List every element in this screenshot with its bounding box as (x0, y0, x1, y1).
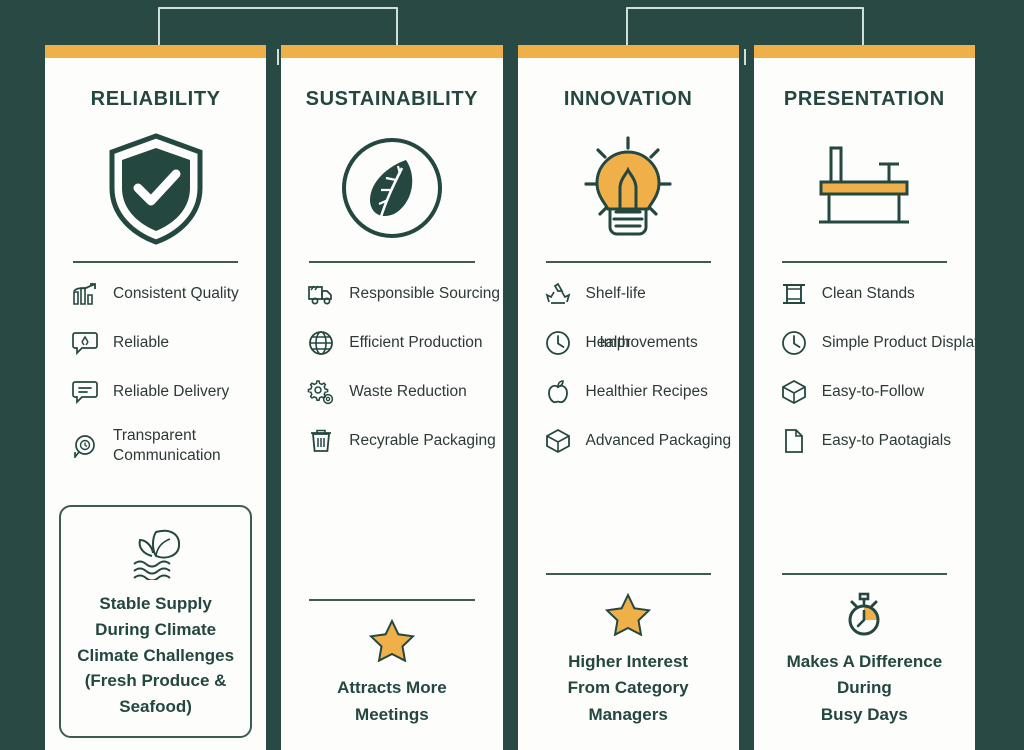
leaf-water-icon (69, 525, 242, 581)
list-item[interactable]: Reliable Delivery (71, 377, 240, 407)
list-item[interactable]: Advanced Packaging (544, 426, 713, 456)
accent-bar (754, 45, 975, 58)
box-3d-icon (544, 427, 572, 455)
list-item-label: Transparent Communication (113, 426, 240, 467)
pillar-title: PRESENTATION (754, 88, 975, 111)
list-item[interactable]: Easy-to-Follow (780, 377, 949, 407)
list-item-label: Responsible Sourcing (349, 284, 500, 304)
star-icon (528, 591, 729, 637)
list-item-label: Easy-to Paotagials (822, 431, 951, 451)
star-icon (291, 617, 492, 663)
list-item-label: Easy-to-Follow (822, 382, 925, 402)
outcome-line: (Fresh Produce & Seafood) (69, 668, 242, 720)
list-item[interactable]: Shelf-life (544, 279, 713, 309)
chat-recycle-icon (71, 329, 99, 357)
display-counter-icon (754, 125, 975, 251)
outcome-line: Stable Supply (69, 591, 242, 617)
outcome-text: Higher Interest From Category Managers (528, 649, 729, 728)
outcome-line: During Climate (69, 617, 242, 643)
list-item-label: Health Improvements (586, 333, 631, 353)
chat-lines-icon (71, 378, 99, 406)
gears-icon (307, 378, 335, 406)
list-item[interactable]: Responsible Sourcing (307, 279, 476, 309)
outcome-line: Makes A Difference (764, 649, 965, 675)
apple-icon (544, 378, 572, 406)
clock-icon (780, 329, 808, 357)
pedestal-icon (780, 280, 808, 308)
pillar-card-reliability[interactable]: RELIABILITY (45, 45, 266, 750)
pillar-columns: RELIABILITY (45, 45, 975, 750)
box-3d-icon (780, 378, 808, 406)
outcome-line: Attracts More (291, 675, 492, 701)
trash-bin-icon (307, 427, 335, 455)
list-item[interactable]: Waste Reduction (307, 377, 476, 407)
outcome-line: Higher Interest (528, 649, 729, 675)
outcome-callout: Higher Interest From Category Managers (518, 575, 739, 750)
pillar-card-sustainability[interactable]: SUSTAINABILITY (281, 45, 502, 750)
outcome-line: Managers (528, 702, 729, 728)
recycle-icon (544, 280, 572, 308)
stopwatch-icon (764, 591, 965, 637)
list-item[interactable]: Simple Product Displays (780, 328, 949, 358)
divider (73, 261, 238, 263)
list-item-label: Efficient Production (349, 333, 482, 353)
list-item-label: Reliable (113, 333, 169, 353)
pillar-card-innovation[interactable]: INNOVATION (518, 45, 739, 750)
outcome-line: Busy Days (764, 702, 965, 728)
shield-check-icon (45, 125, 266, 251)
feature-list: Consistent Quality Reliable (71, 279, 240, 467)
feature-list: Shelf-life Health Improvements (544, 279, 713, 456)
globe-icon (307, 329, 335, 357)
accent-bar (518, 45, 739, 58)
bar-chart-growth-icon (71, 280, 99, 308)
feature-list: Responsible Sourcing Efficient Productio… (307, 279, 476, 456)
list-item[interactable]: Clean Stands (780, 279, 949, 309)
outcome-text: Stable Supply During Climate Climate Cha… (69, 591, 242, 720)
list-item-label: Recyrable Packaging (349, 431, 495, 451)
accent-bar (281, 45, 502, 58)
list-item-label: Shelf-life (586, 284, 646, 304)
outcome-line: From Category (528, 675, 729, 701)
pillar-card-presentation[interactable]: PRESENTATION (754, 45, 975, 750)
list-item[interactable]: Health Improvements (544, 328, 713, 358)
delivery-truck-icon (307, 280, 335, 308)
pillar-title: INNOVATION (518, 88, 739, 111)
divider (546, 261, 711, 263)
list-item-label: Simple Product Displays (822, 333, 975, 353)
divider (782, 261, 947, 263)
feature-list: Clean Stands Simple Product Displays (780, 279, 949, 456)
outcome-callout: Stable Supply During Climate Climate Cha… (59, 505, 252, 738)
lightbulb-icon (518, 125, 739, 251)
outcome-callout: Makes A Difference During Busy Days (754, 575, 975, 750)
list-item[interactable]: Recyrable Packaging (307, 426, 476, 456)
list-item[interactable]: Healthier Recipes (544, 377, 713, 407)
outcome-text: Attracts More Meetings (291, 675, 492, 728)
leaf-circle-icon (281, 125, 502, 251)
list-item[interactable]: Reliable (71, 328, 240, 358)
list-item-label: Advanced Packaging (586, 431, 732, 451)
list-item-label: Reliable Delivery (113, 382, 229, 402)
pillar-title: SUSTAINABILITY (281, 88, 502, 111)
divider (309, 261, 474, 263)
infographic-canvas: RELIABILITY (0, 0, 1024, 750)
outcome-line: During (764, 675, 965, 701)
list-item-label-overlay: Improvements (600, 333, 698, 353)
clock-icon (544, 329, 572, 357)
chat-clock-icon (71, 432, 99, 460)
list-item-label: Healthier Recipes (586, 382, 708, 402)
list-item[interactable]: Transparent Communication (71, 426, 240, 467)
accent-bar (45, 45, 266, 58)
outcome-line: Climate Challenges (69, 643, 242, 669)
list-item[interactable]: Consistent Quality (71, 279, 240, 309)
outcome-text: Makes A Difference During Busy Days (764, 649, 965, 728)
document-icon (780, 427, 808, 455)
outcome-callout: Attracts More Meetings (281, 601, 502, 750)
list-item-label: Clean Stands (822, 284, 915, 304)
outcome-line: Meetings (291, 702, 492, 728)
list-item[interactable]: Efficient Production (307, 328, 476, 358)
list-item-label: Waste Reduction (349, 382, 466, 402)
pillar-title: RELIABILITY (45, 88, 266, 111)
list-item-label: Consistent Quality (113, 284, 239, 304)
list-item[interactable]: Easy-to Paotagials (780, 426, 949, 456)
